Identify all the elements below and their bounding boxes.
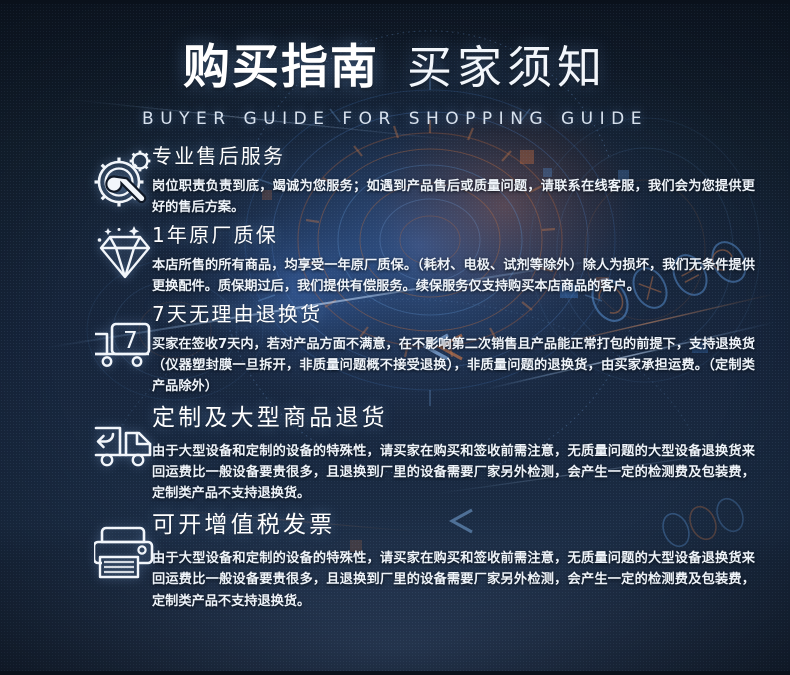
buyer-guide-banner: 购买指南 买家须知 BUYER GUIDE FOR SHOPPING GUIDE	[0, 0, 790, 675]
section-heading: 专业售后服务	[152, 140, 755, 169]
title-row: 购买指南 买家须知	[0, 28, 790, 97]
page-title-primary: 购买指南	[183, 28, 379, 97]
page-subtitle: BUYER GUIDE FOR SHOPPING GUIDE	[0, 109, 790, 129]
section-body: 由于大型设备和定制的设备的特殊性，请买家在购买和签收前需注意，无质量问题的大型设…	[152, 441, 755, 505]
guide-section-vat-invoice: 可开增值税发票 由于大型设备和定制的设备的特殊性，请买家在购买和签收前需注意，无…	[0, 505, 790, 612]
section-body: 本店所售的所有商品，均享受一年原厂质保。（耗材、电极、试剂等除外）除人为损坏，我…	[152, 255, 755, 298]
guide-section-seven-day-return: 7 7天无理由退换货 买家在签收7天内，若对产品方面不满意，在不影响第二次销售且…	[0, 298, 790, 398]
section-body: 由于大型设备和定制的设备的特殊性，请买家在购买和签收前需注意，无质量问题的大型设…	[152, 548, 755, 612]
printer-icon	[92, 519, 158, 585]
section-body: 买家在签收7天内，若对产品方面不满意，在不影响第二次销售且产品能正常打包的前提下…	[152, 334, 755, 398]
guide-section-list: 专业售后服务 岗位职责负责到底，竭诚为您服务；如遇到产品售后或质量问题，请联系在…	[0, 140, 790, 612]
section-heading: 7天无理由退换货	[152, 298, 755, 327]
guide-section-after-sales: 专业售后服务 岗位职责负责到底，竭诚为您服务；如遇到产品售后或质量问题，请联系在…	[0, 140, 790, 219]
section-heading: 可开增值税发票	[152, 505, 755, 539]
guide-section-warranty: 1年原厂质保 本店所售的所有商品，均享受一年原厂质保。（耗材、电极、试剂等除外）…	[0, 219, 790, 298]
section-heading: 定制及大型商品退货	[152, 398, 755, 432]
guide-section-custom-large-return: 定制及大型商品退货 由于大型设备和定制的设备的特殊性，请买家在购买和签收前需注意…	[0, 398, 790, 505]
section-body: 岗位职责负责到底，竭诚为您服务；如遇到产品售后或质量问题，请联系在线客服，我们会…	[152, 176, 755, 219]
diamond-icon	[92, 221, 158, 287]
truck-seven-icon: 7	[92, 310, 158, 376]
section-heading: 1年原厂质保	[152, 219, 755, 248]
gear-wrench-icon	[92, 146, 158, 212]
banner-header: 购买指南 买家须知 BUYER GUIDE FOR SHOPPING GUIDE	[0, 28, 790, 129]
truck-return-icon	[92, 412, 158, 478]
svg-text:7: 7	[123, 328, 138, 354]
page-title-secondary: 买家须知	[407, 31, 607, 96]
